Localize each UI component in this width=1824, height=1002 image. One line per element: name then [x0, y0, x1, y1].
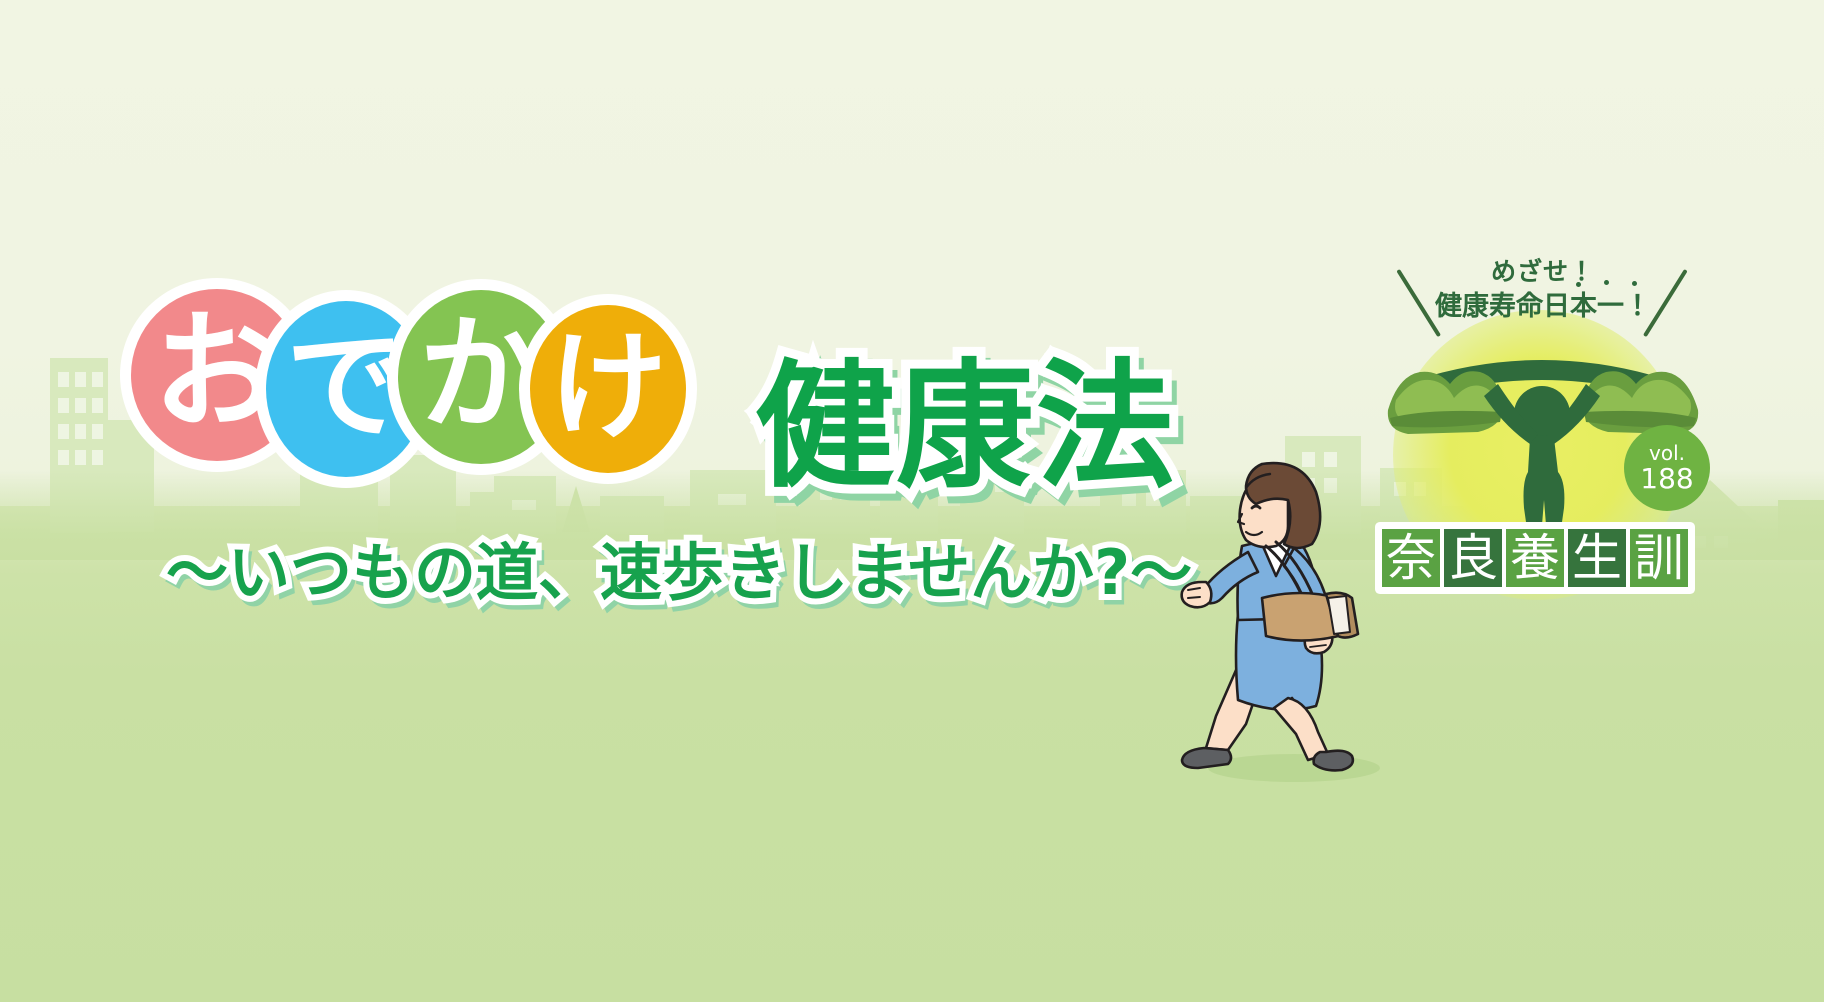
emphasis-dot — [1604, 280, 1609, 285]
building-window — [75, 372, 86, 387]
banner-subtitle: ～いつもの道、速歩きしませんか?～ ～いつもの道、速歩きしませんか?～ ～いつも… — [166, 542, 1046, 622]
logo-tagline-line2: 健康寿命日本一！ — [1358, 290, 1728, 324]
title-kana-char-1: で — [286, 327, 406, 447]
title-kana-char-2: か — [419, 313, 543, 437]
building-window — [75, 398, 86, 413]
odekake-kenkouhou-banner: お で か け 健康法 健康法 健康法 ～いつもの道、速歩きしませんか?～ ～い… — [0, 0, 1824, 1002]
title-kana-char-0: お — [153, 309, 281, 437]
series-char-box-0: 奈 — [1382, 529, 1440, 587]
series-char-box-3: 生 — [1568, 529, 1626, 587]
volume-label: vol. — [1649, 443, 1685, 464]
emphasis-dot — [1576, 282, 1581, 287]
volume-number: 188 — [1640, 464, 1693, 493]
nara-yojokun-logo: めざせ！ 健康寿命日本一！ — [1358, 250, 1728, 610]
title-circle-3: け — [530, 305, 686, 473]
series-char-0: 奈 — [1386, 533, 1436, 583]
building-window — [75, 424, 86, 439]
series-char-4: 訓 — [1634, 533, 1684, 583]
logo-tagline-line1: めざせ！ — [1358, 256, 1728, 287]
title-kanji: 健康法 健康法 健康法 — [756, 358, 1186, 518]
building-window — [58, 424, 69, 439]
title-kanji-fill: 健康法 — [756, 358, 1176, 496]
building-window — [92, 450, 103, 465]
series-char-2: 養 — [1510, 533, 1560, 583]
building-window — [75, 450, 86, 465]
building-window — [58, 450, 69, 465]
series-title-boxes: 奈 良 養 生 訓 — [1378, 525, 1692, 591]
building-window — [92, 424, 103, 439]
series-char-3: 生 — [1572, 533, 1622, 583]
building-window — [92, 398, 103, 413]
building-window — [58, 372, 69, 387]
series-char-1: 良 — [1448, 533, 1498, 583]
title-kana-char-3: け — [549, 328, 667, 446]
subtitle-fill: ～いつもの道、速歩きしませんか?～ — [166, 542, 1192, 604]
building-window — [58, 398, 69, 413]
emphasis-dot — [1632, 281, 1637, 286]
volume-bubble: vol. 188 — [1624, 425, 1710, 511]
series-char-box-4: 訓 — [1630, 529, 1688, 587]
series-char-box-2: 養 — [1506, 529, 1564, 587]
building-window — [92, 372, 103, 387]
series-char-box-1: 良 — [1444, 529, 1502, 587]
